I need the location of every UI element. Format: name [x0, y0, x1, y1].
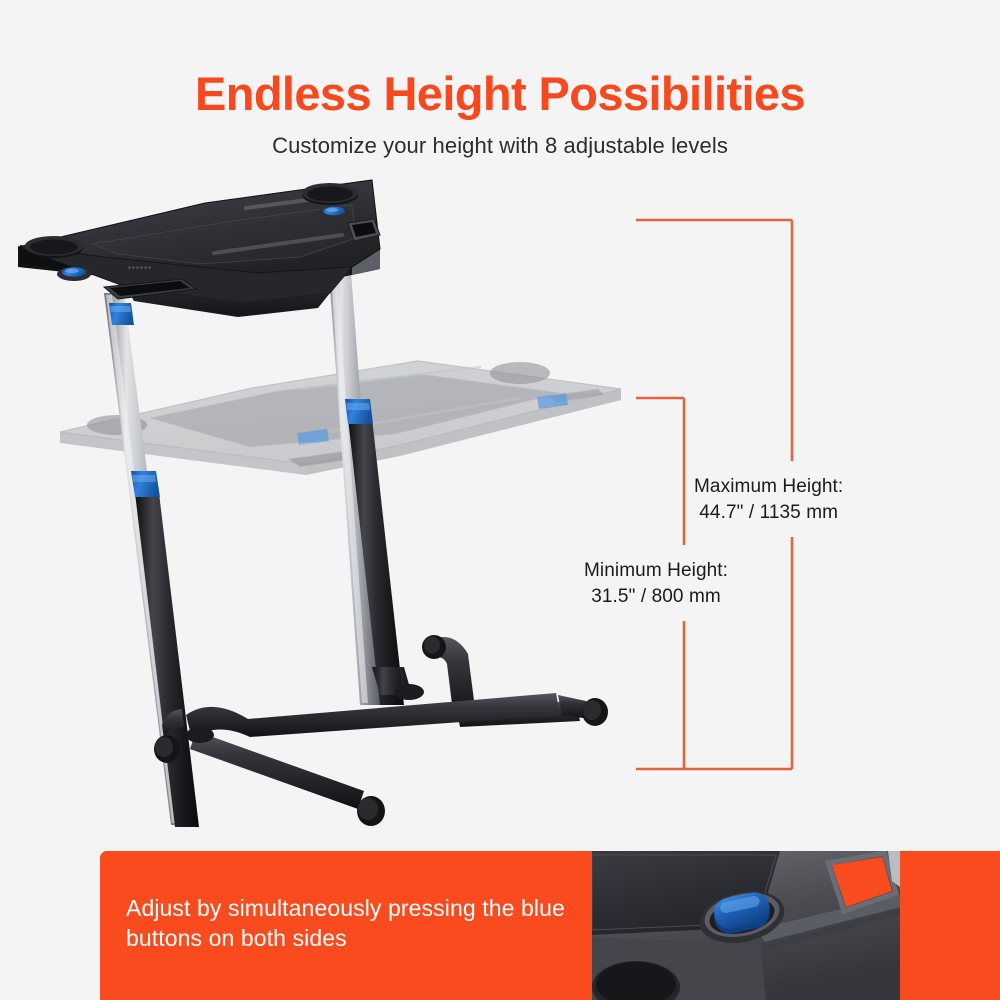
caster-wheel-right-front	[582, 698, 608, 726]
brand-logo: ▪▪▪▪▪▪	[128, 263, 152, 272]
blue-collar-left-lower	[131, 471, 160, 497]
blue-button-closeup-photo	[570, 851, 1000, 1000]
caster-wheel-left-front	[357, 796, 385, 826]
instruction-line-2: buttons on both sides	[126, 925, 347, 951]
svg-text:▪▪▪▪▪▪: ▪▪▪▪▪▪	[300, 439, 324, 448]
raised-desktop: ▪▪▪▪▪▪	[18, 180, 380, 317]
infographic-page: Endless Height Possibilities Customize y…	[0, 0, 1000, 1000]
cup-holder-left	[25, 236, 83, 258]
blue-collar-left-upper	[109, 303, 134, 325]
left-telescoping-leg	[104, 293, 199, 827]
product-illustration: ▪▪▪▪▪▪	[0, 175, 1000, 851]
instruction-banner: Adjust by simultaneously pressing the bl…	[100, 851, 1000, 1000]
page-subtitle: Customize your height with 8 adjustable …	[0, 132, 1000, 160]
blue-release-button-right	[318, 207, 350, 220]
instruction-text: Adjust by simultaneously pressing the bl…	[126, 893, 596, 953]
right-telescoping-leg	[326, 233, 404, 705]
blue-release-button-left	[57, 267, 91, 281]
blue-collar-right-lower	[345, 399, 373, 424]
caster-wheel-left-rear	[154, 735, 180, 763]
page-title: Endless Height Possibilities	[0, 66, 1000, 122]
header: Endless Height Possibilities Customize y…	[0, 66, 1000, 160]
cup-holder-right	[302, 183, 358, 205]
instruction-line-1: Adjust by simultaneously pressing the bl…	[126, 895, 565, 921]
caster-wheel-right-rear	[422, 635, 446, 659]
